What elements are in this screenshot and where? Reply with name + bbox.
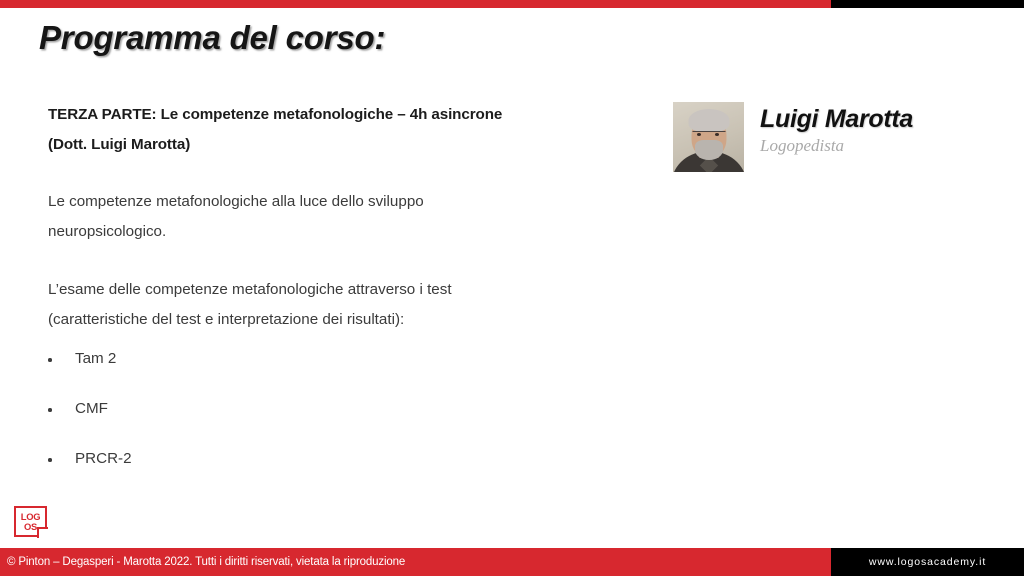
footer-red-segment: © Pinton – Degasperi - Marotta 2022. Tut… — [0, 548, 831, 576]
paragraph-neuropsychological: Le competenze metafonologiche alla luce … — [48, 187, 608, 247]
list-item-label: Tam 2 — [75, 350, 116, 367]
top-bar-black-segment — [831, 0, 1024, 8]
test-bullet-list: Tam 2 CMF PRCR-2 — [48, 349, 608, 469]
portrait-hair — [688, 109, 729, 132]
section-heading-line-1: TERZA PARTE: Le competenze metafonologic… — [48, 106, 502, 123]
speaker-text-block: Luigi Marotta Logopedista — [760, 102, 913, 156]
bullet-dot-icon — [48, 358, 52, 362]
portrait-eye-left — [697, 133, 701, 136]
top-accent-bar — [0, 0, 1024, 8]
slide-content-column: TERZA PARTE: Le competenze metafonologic… — [48, 100, 608, 499]
footer-black-segment: www.logosacademy.it — [831, 548, 1024, 576]
speaker-role: Logopedista — [760, 136, 913, 156]
logo-corner-notch — [37, 527, 48, 538]
list-item: Tam 2 — [48, 349, 608, 369]
portrait-eye-right — [715, 133, 719, 136]
list-item-label: PRCR-2 — [75, 450, 132, 467]
speaker-card: Luigi Marotta Logopedista — [673, 102, 913, 172]
logo-text-line-1: LOG — [21, 512, 40, 522]
paragraph-1-line-1: Le competenze metafonologiche alla luce … — [48, 193, 424, 210]
section-heading: TERZA PARTE: Le competenze metafonologic… — [48, 100, 608, 160]
paragraph-1-line-2: neuropsicologico. — [48, 223, 166, 240]
paragraph-2-line-2: (caratteristiche del test e interpretazi… — [48, 311, 404, 328]
slide-title: Programma del corso: — [39, 19, 385, 57]
footer-website-url[interactable]: www.logosacademy.it — [869, 556, 986, 568]
section-heading-line-2: (Dott. Luigi Marotta) — [48, 136, 190, 153]
portrait-beard — [695, 140, 723, 160]
logos-brand-logo: LOG OS — [14, 506, 47, 537]
footer-copyright-text: © Pinton – Degasperi - Marotta 2022. Tut… — [0, 556, 405, 568]
paragraph-2-line-1: L’esame delle competenze metafonologiche… — [48, 281, 452, 298]
bullet-dot-icon — [48, 458, 52, 462]
slide-footer: © Pinton – Degasperi - Marotta 2022. Tut… — [0, 548, 1024, 576]
speaker-name: Luigi Marotta — [760, 105, 913, 133]
top-bar-red-segment — [0, 0, 831, 8]
list-item: PRCR-2 — [48, 449, 608, 469]
speaker-portrait-photo — [673, 102, 744, 172]
logo-text-line-2: OS — [24, 522, 37, 532]
paragraph-test-examination: L’esame delle competenze metafonologiche… — [48, 275, 608, 335]
bullet-dot-icon — [48, 408, 52, 412]
list-item: CMF — [48, 399, 608, 419]
list-item-label: CMF — [75, 400, 108, 417]
